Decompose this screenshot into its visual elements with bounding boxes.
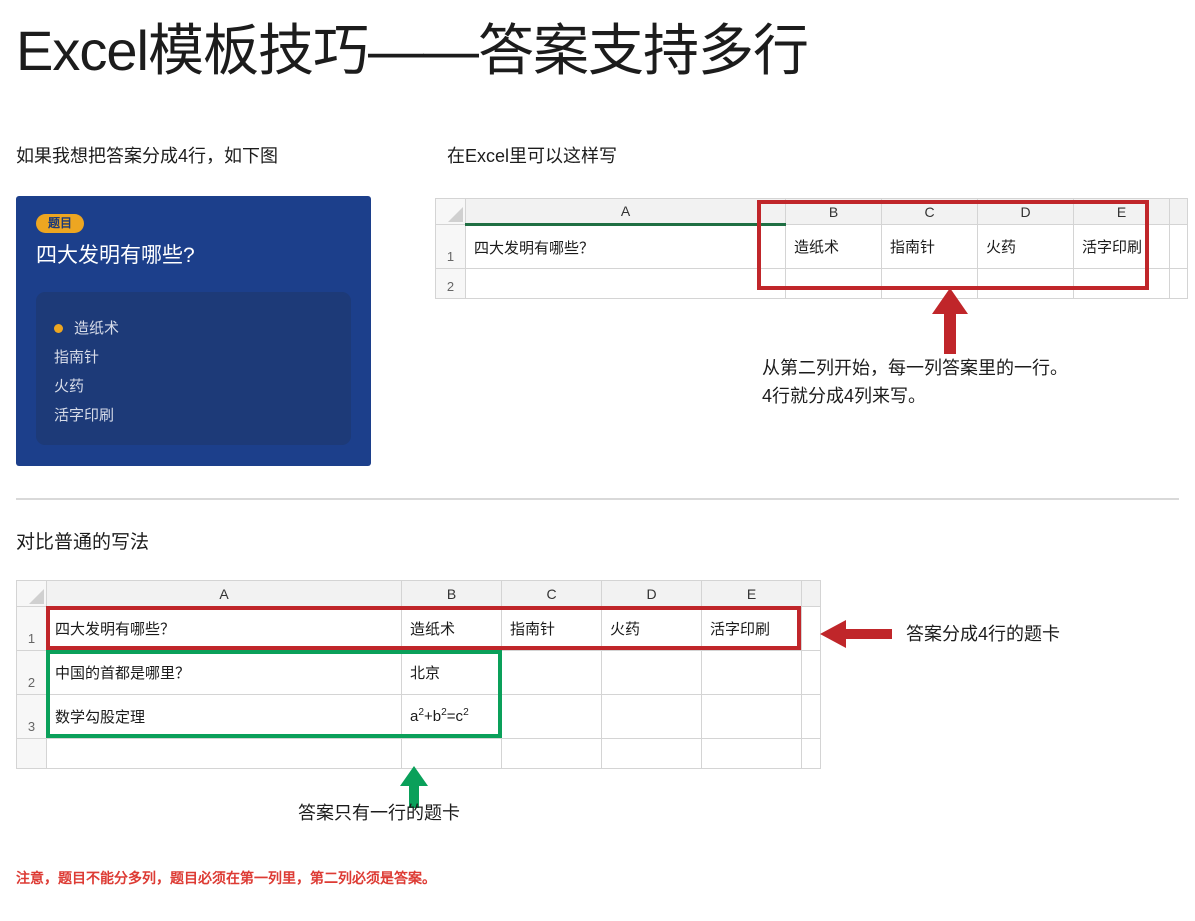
question-card: 题目 四大发明有哪些? 造纸术 指南针 火药 活字印刷 (16, 196, 371, 466)
cell-e1[interactable]: 活字印刷 (702, 607, 802, 651)
cell-c3[interactable] (502, 695, 602, 739)
cell-f1-partial[interactable] (802, 607, 821, 651)
card-question-text: 四大发明有哪些? (36, 242, 351, 269)
cell-f4-partial[interactable] (802, 739, 821, 769)
column-header-b[interactable]: B (786, 199, 882, 225)
cell-d1[interactable]: 火药 (978, 225, 1074, 269)
column-header-d[interactable]: D (978, 199, 1074, 225)
cell-d1[interactable]: 火药 (602, 607, 702, 651)
answer-line: 造纸术 (54, 314, 333, 343)
cell-a4[interactable] (47, 739, 402, 769)
corner-triangle-icon (448, 207, 463, 222)
slide-root: Excel模板技巧——答案支持多行 如果我想把答案分成4行，如下图 在Excel… (0, 0, 1195, 921)
cell-c2[interactable] (882, 269, 978, 299)
bullet-icon (54, 324, 63, 333)
cell-d4[interactable] (602, 739, 702, 769)
cell-a2[interactable] (466, 269, 786, 299)
subtitle-right: 在Excel里可以这样写 (447, 146, 617, 168)
column-header-c[interactable]: C (502, 581, 602, 607)
cell-d3[interactable] (602, 695, 702, 739)
answer-line: 火药 (54, 372, 333, 401)
column-header-b[interactable]: B (402, 581, 502, 607)
cell-f2-partial[interactable] (802, 651, 821, 695)
answer-line: 活字印刷 (54, 401, 333, 430)
column-header-a[interactable]: A (47, 581, 402, 607)
column-header-e[interactable]: E (1074, 199, 1170, 225)
subtitle-left: 如果我想把答案分成4行，如下图 (16, 146, 278, 168)
select-all-corner[interactable] (436, 199, 466, 225)
cell-c4[interactable] (502, 739, 602, 769)
bottom-green-annotation: 答案只有一行的题卡 (298, 800, 460, 828)
row-header[interactable]: 2 (17, 651, 47, 695)
table-row[interactable]: 1 四大发明有哪些？ 造纸术 指南针 火药 活字印刷 (17, 607, 821, 651)
cell-b2[interactable] (786, 269, 882, 299)
cell-e1[interactable]: 活字印刷 (1074, 225, 1170, 269)
select-all-corner[interactable] (17, 581, 47, 607)
table-row[interactable]: 2 (436, 269, 1188, 299)
answer-text: 指南针 (54, 343, 99, 372)
table-row[interactable]: 3 数学勾股定理 a2+b2=c2 (17, 695, 821, 739)
cell-f3-partial[interactable] (802, 695, 821, 739)
cell-c2[interactable] (502, 651, 602, 695)
top-annotation-text: 从第二列开始，每一列答案里的一行。 4行就分成4列来写。 (762, 355, 1182, 411)
cell-e2[interactable] (702, 651, 802, 695)
cell-e4[interactable] (702, 739, 802, 769)
table-row[interactable]: 1 四大发明有哪些？ 造纸术 指南针 火药 活字印刷 (436, 225, 1188, 269)
column-header-f-partial[interactable] (802, 581, 821, 607)
bottom-excel-table[interactable]: A B C D E 1 四大发明有哪些？ 造纸术 指南针 火药 活字印刷 2 中… (16, 580, 821, 769)
top-excel-table[interactable]: A B C D E 1 四大发明有哪些？ 造纸术 指南针 火药 活字印刷 2 (435, 198, 1188, 299)
cell-b2[interactable]: 北京 (402, 651, 502, 695)
column-header-f-partial[interactable] (1170, 199, 1188, 225)
warning-text: 注意，题目不能分多列，题目必须在第一列里，第二列必须是答案。 (16, 868, 436, 888)
cell-f1-partial[interactable] (1170, 225, 1188, 269)
table-row[interactable]: 2 中国的首都是哪里？ 北京 (17, 651, 821, 695)
bottom-red-annotation: 答案分成4行的题卡 (906, 621, 1060, 649)
row-header[interactable]: 2 (436, 269, 466, 299)
formula-text: a2+b2=c2 (410, 708, 469, 725)
section-heading: 对比普通的写法 (16, 527, 149, 554)
answer-panel: 造纸术 指南针 火药 活字印刷 (36, 292, 351, 445)
corner-triangle-icon (29, 589, 44, 604)
cell-b3[interactable]: a2+b2=c2 (402, 695, 502, 739)
answer-text: 造纸术 (74, 314, 119, 343)
cell-a1[interactable]: 四大发明有哪些？ (47, 607, 402, 651)
cell-d2[interactable] (602, 651, 702, 695)
section-divider (16, 498, 1179, 500)
cell-b4[interactable] (402, 739, 502, 769)
row-header[interactable]: 1 (17, 607, 47, 651)
red-left-arrow-icon (820, 620, 892, 648)
row-header[interactable] (17, 739, 47, 769)
question-badge: 题目 (36, 214, 84, 233)
row-header[interactable]: 1 (436, 225, 466, 269)
cell-d2[interactable] (978, 269, 1074, 299)
cell-b1[interactable]: 造纸术 (786, 225, 882, 269)
answer-line: 指南针 (54, 343, 333, 372)
column-header-e[interactable]: E (702, 581, 802, 607)
column-header-a[interactable]: A (466, 199, 786, 225)
cell-e2[interactable] (1074, 269, 1170, 299)
cell-b1[interactable]: 造纸术 (402, 607, 502, 651)
column-header-c[interactable]: C (882, 199, 978, 225)
column-header-d[interactable]: D (602, 581, 702, 607)
answer-text: 火药 (54, 372, 84, 401)
cell-c1[interactable]: 指南针 (502, 607, 602, 651)
page-title: Excel模板技巧——答案支持多行 (16, 20, 808, 82)
cell-a2[interactable]: 中国的首都是哪里？ (47, 651, 402, 695)
cell-e3[interactable] (702, 695, 802, 739)
cell-a3[interactable]: 数学勾股定理 (47, 695, 402, 739)
cell-a1[interactable]: 四大发明有哪些？ (466, 225, 786, 269)
row-header[interactable]: 3 (17, 695, 47, 739)
cell-c1[interactable]: 指南针 (882, 225, 978, 269)
cell-f2-partial[interactable] (1170, 269, 1188, 299)
answer-text: 活字印刷 (54, 401, 114, 430)
table-row[interactable] (17, 739, 821, 769)
